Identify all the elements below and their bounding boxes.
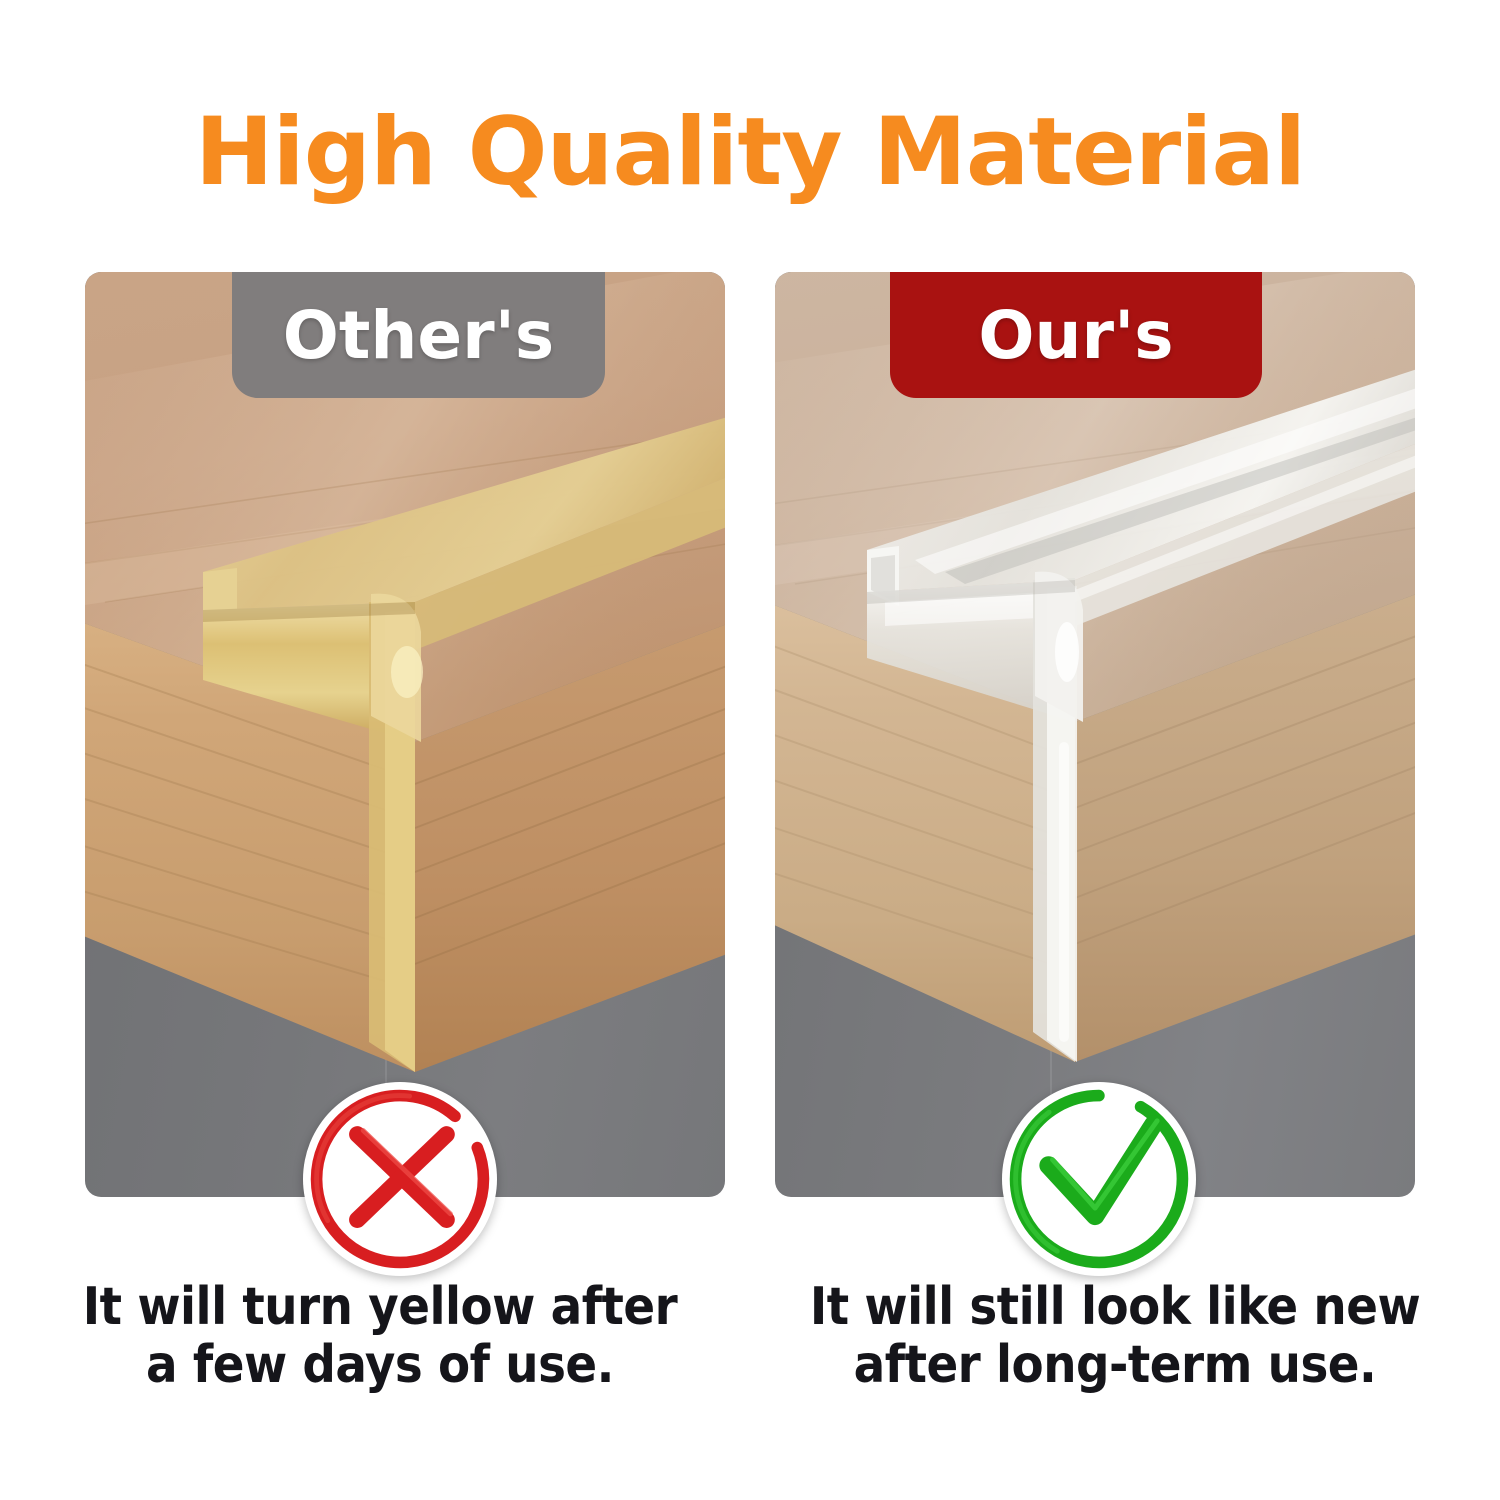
x-mark-icon: [303, 1082, 497, 1276]
comparison-panel-other: Other's: [85, 272, 725, 1197]
table-corner-svg-right: [775, 272, 1415, 1197]
caption-our-line1: It will still look like new: [810, 1277, 1420, 1337]
comparison-panel-our: Our's: [775, 272, 1415, 1197]
check-mark-icon: [1002, 1082, 1196, 1276]
caption-other: It will turn yellow after a few days of …: [55, 1278, 705, 1394]
caption-our-line2: after long-term use.: [790, 1336, 1440, 1394]
label-badge-our: Our's: [890, 272, 1262, 398]
caption-our: It will still look like new after long-t…: [790, 1278, 1440, 1394]
table-corner-illustration-left: [85, 272, 725, 1197]
status-badge-negative: [303, 1082, 497, 1276]
table-corner-illustration-right: [775, 272, 1415, 1197]
caption-other-line1: It will turn yellow after: [83, 1277, 677, 1337]
caption-other-line2: a few days of use.: [55, 1336, 705, 1394]
status-badge-positive: [1002, 1082, 1196, 1276]
table-corner-svg-left: [85, 272, 725, 1197]
page-title: High Quality Material: [0, 104, 1500, 203]
label-badge-other: Other's: [232, 272, 605, 398]
